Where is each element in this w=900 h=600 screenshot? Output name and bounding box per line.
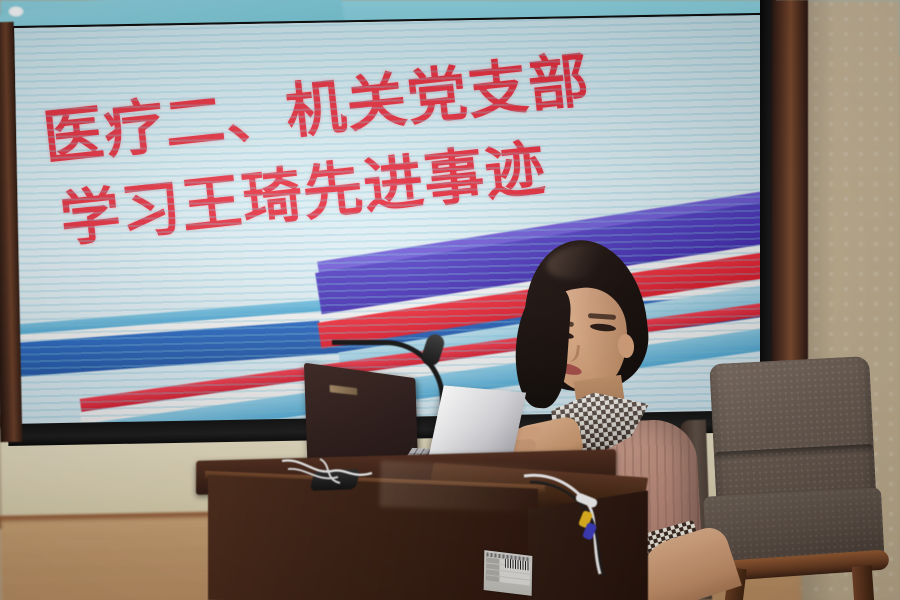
laptop-cables [520, 470, 630, 580]
photo-scene: 医疗二、机关党支部 学习王琦先进事迹 [0, 0, 900, 600]
power-cables [280, 455, 410, 495]
hair-side-strand [512, 286, 572, 409]
chair-leg-right [852, 565, 879, 600]
ceiling-light-icon [8, 6, 24, 17]
asset-tag-sticker [484, 550, 533, 596]
laptop-brand-logo [330, 385, 358, 395]
